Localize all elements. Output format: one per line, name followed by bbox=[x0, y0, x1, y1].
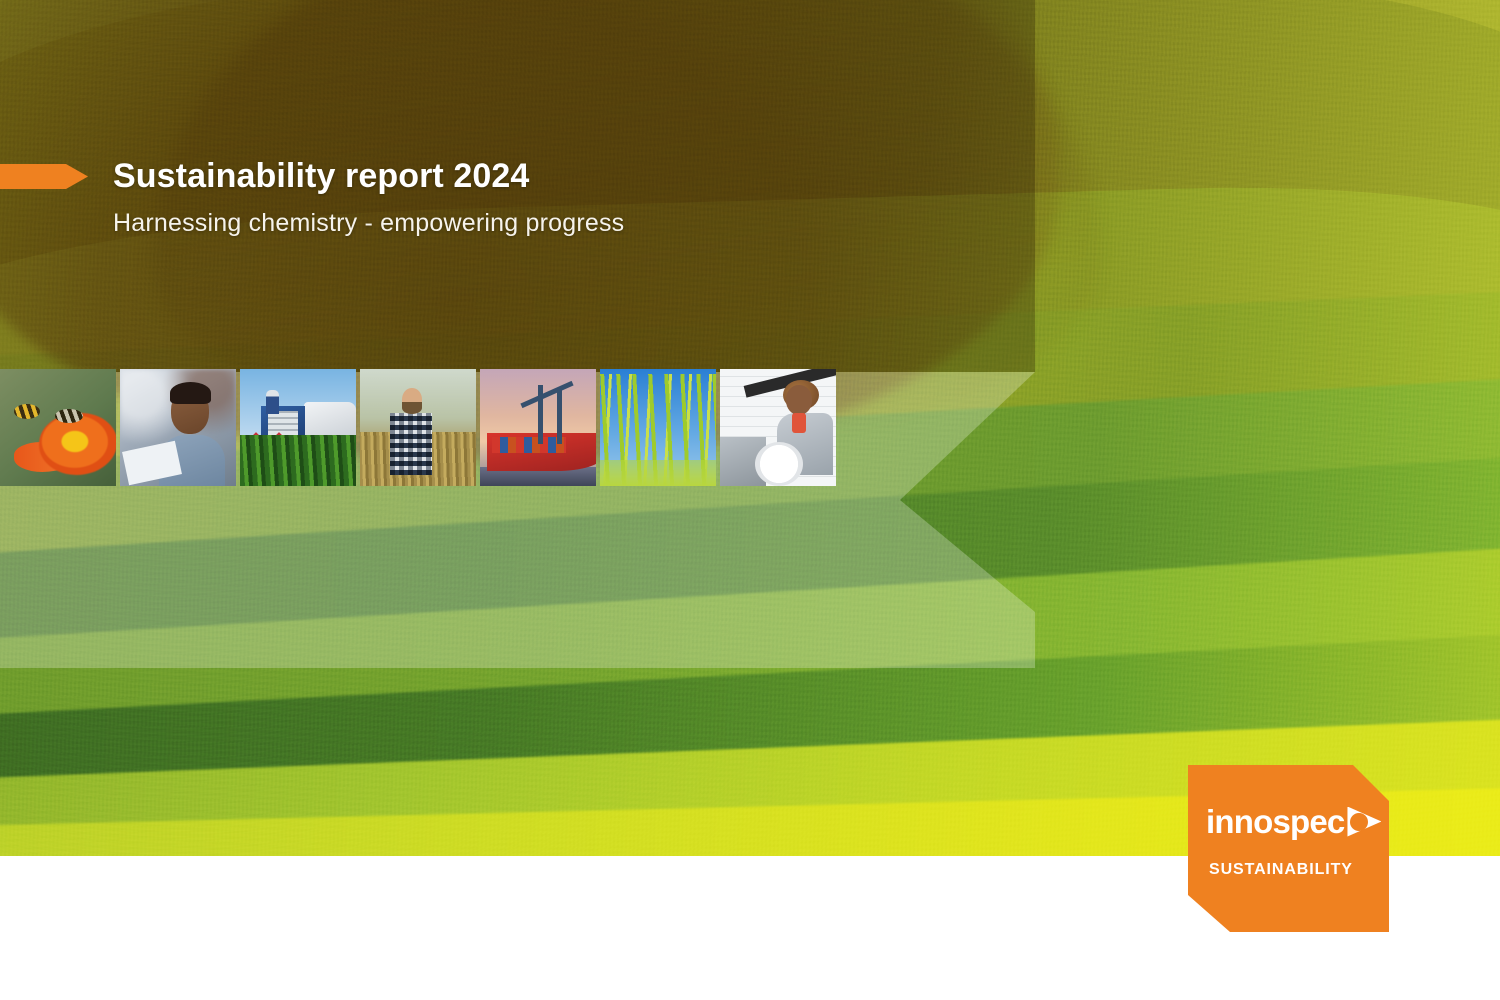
photo-bees-on-flower bbox=[0, 369, 116, 486]
bee-landed bbox=[55, 409, 83, 423]
clean-plate bbox=[755, 442, 803, 486]
innospec-logo-block bbox=[1188, 765, 1389, 932]
dish-cloth bbox=[792, 413, 806, 433]
photo-container-port bbox=[480, 369, 596, 486]
photo-student-in-classroom bbox=[120, 369, 236, 486]
ibc-container bbox=[268, 411, 298, 435]
innospec-wordmark-text: innospec bbox=[1206, 805, 1344, 838]
innospec-arrow-icon bbox=[1347, 807, 1381, 837]
chevron-overlay-lower bbox=[0, 612, 1035, 668]
photo-chemical-tanker-truck bbox=[240, 369, 356, 486]
checked-shirt bbox=[390, 413, 432, 475]
worker-figure bbox=[266, 390, 279, 414]
port-crane-2 bbox=[557, 390, 562, 444]
shipping-containers bbox=[492, 437, 566, 453]
student-hair bbox=[170, 382, 211, 404]
logo-tagline: SUSTAINABILITY bbox=[1209, 861, 1353, 879]
crop-base bbox=[600, 460, 716, 486]
page-title: Sustainability report 2024 bbox=[113, 157, 529, 196]
photo-farmer-in-field bbox=[360, 369, 476, 486]
innospec-wordmark: innospec bbox=[1206, 805, 1381, 838]
photo-woman-in-kitchen bbox=[720, 369, 836, 486]
report-cover-page: Sustainability report 2024 Harnessing ch… bbox=[0, 0, 1500, 1000]
arrow-circle-cutout bbox=[1350, 813, 1368, 831]
photo-strip bbox=[0, 369, 820, 486]
farmer-beard bbox=[402, 402, 422, 414]
page-subtitle: Harnessing chemistry - empowering progre… bbox=[113, 209, 624, 238]
photo-rapeseed-crop bbox=[600, 369, 716, 486]
woman-head bbox=[786, 385, 812, 415]
cornfield bbox=[240, 435, 356, 486]
bee-flying bbox=[14, 404, 40, 419]
